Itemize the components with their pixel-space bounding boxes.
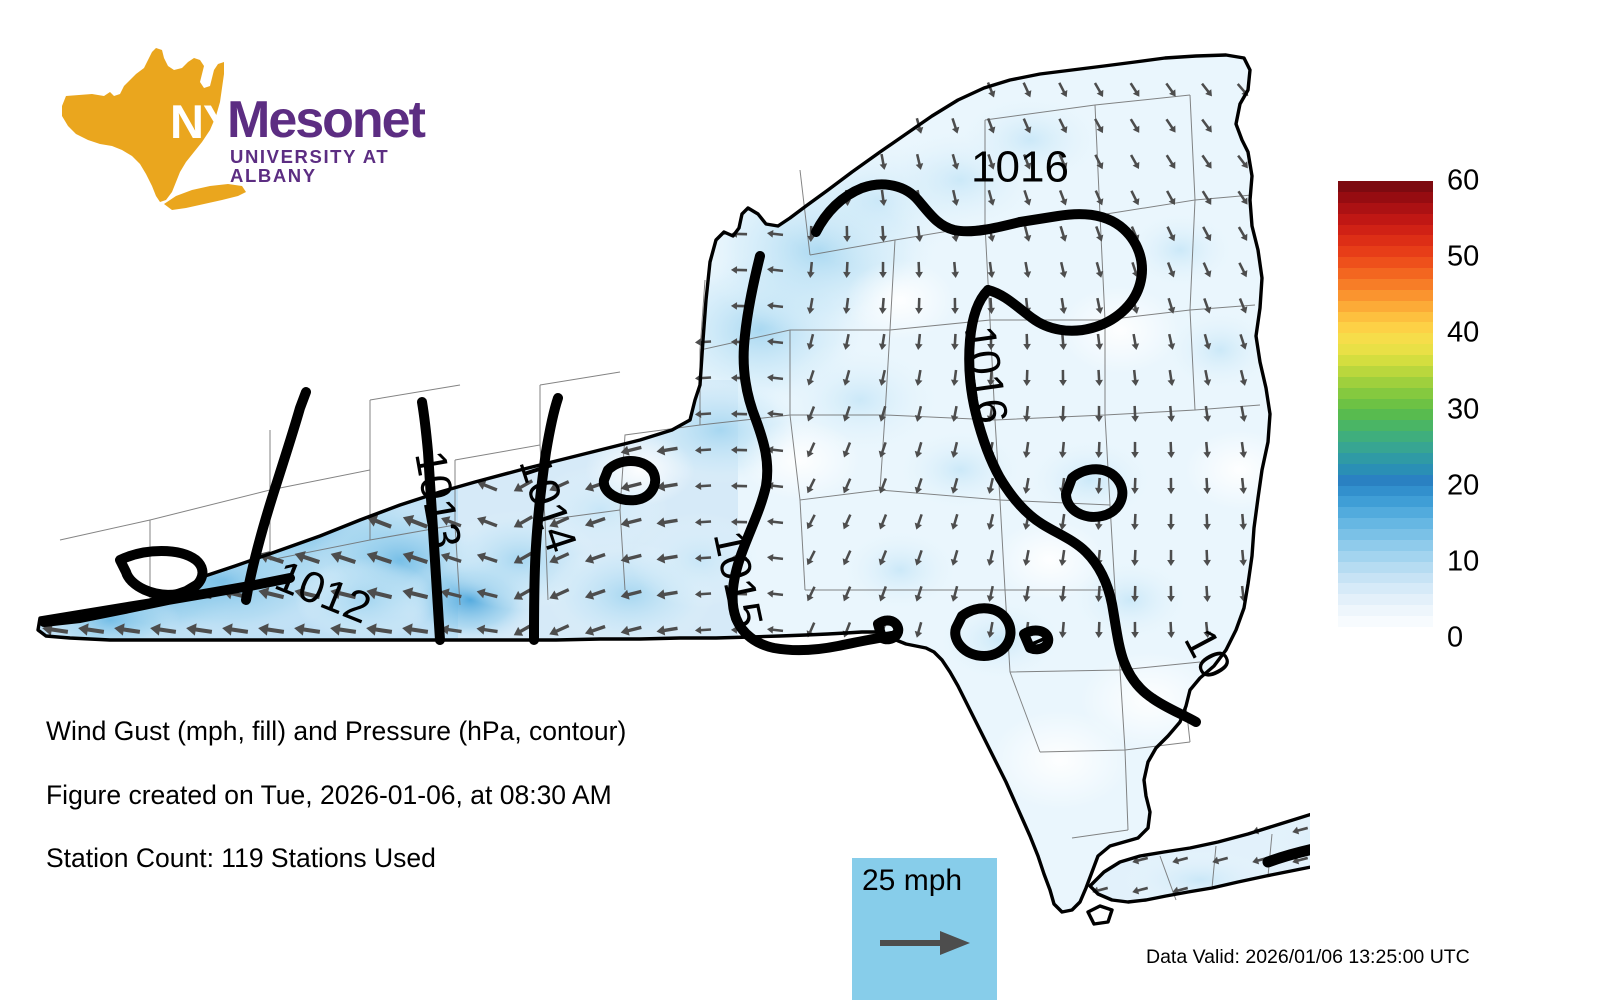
colorbar-band [1338, 594, 1433, 605]
colorbar-tick-30: 30 [1447, 395, 1479, 424]
colorbar-band [1338, 442, 1433, 453]
data-valid-footer: Data Valid: 2026/01/06 13:25:00 UTC [1146, 948, 1470, 968]
colorbar-tick-60: 60 [1447, 167, 1479, 196]
colorbar-band [1338, 529, 1433, 540]
colorbar-band [1338, 399, 1433, 410]
colorbar-band [1338, 214, 1433, 225]
colorbar-band [1338, 583, 1433, 594]
colorbar-band [1338, 377, 1433, 388]
colorbar-band [1338, 540, 1433, 551]
colorbar-band [1338, 366, 1433, 377]
colorbar-band [1338, 301, 1433, 312]
colorbar-band [1338, 203, 1433, 214]
colorbar-band [1338, 486, 1433, 497]
colorbar-band [1338, 192, 1433, 203]
colorbar [1338, 181, 1433, 638]
colorbar-band [1338, 181, 1433, 192]
caption-title: Wind Gust (mph, fill) and Pressure (hPa,… [46, 718, 806, 745]
colorbar-band [1338, 551, 1433, 562]
colorbar-band [1338, 616, 1433, 627]
colorbar-band [1338, 333, 1433, 344]
caption-created: Figure created on Tue, 2026-01-06, at 08… [46, 782, 806, 809]
colorbar-band [1338, 409, 1433, 420]
colorbar-tick-50: 50 [1447, 243, 1479, 272]
contour-label-1016-north: 1016 [971, 143, 1069, 192]
colorbar-band [1338, 475, 1433, 486]
colorbar-band [1338, 279, 1433, 290]
colorbar-band [1338, 235, 1433, 246]
colorbar-tick-40: 40 [1447, 319, 1479, 348]
colorbar-band [1338, 605, 1433, 616]
colorbar-band [1338, 355, 1433, 366]
wind-vector-key: 25 mph [852, 858, 997, 1000]
colorbar-tick-20: 20 [1447, 471, 1479, 500]
colorbar-tick-10: 10 [1447, 547, 1479, 576]
colorbar-band [1338, 496, 1433, 507]
logo-subtitle: UNIVERSITY AT ALBANY [230, 148, 402, 185]
wind-arrow-icon [880, 926, 972, 960]
colorbar-band [1338, 573, 1433, 584]
colorbar-band [1338, 322, 1433, 333]
colorbar-band [1338, 420, 1433, 431]
logo-mesonet-text: Mesonet [227, 94, 424, 146]
colorbar-band [1338, 312, 1433, 323]
wind-key-label: 25 mph [862, 866, 962, 896]
colorbar-band [1338, 431, 1433, 442]
colorbar-band [1338, 388, 1433, 399]
colorbar-band [1338, 507, 1433, 518]
caption-stations: Station Count: 119 Stations Used [46, 845, 806, 872]
colorbar-band [1338, 518, 1433, 529]
colorbar-tick-labels: 6050403020100 [1447, 181, 1577, 638]
colorbar-band [1338, 562, 1433, 573]
colorbar-band [1338, 464, 1433, 475]
colorbar-band [1338, 225, 1433, 236]
colorbar-band [1338, 453, 1433, 464]
colorbar-tick-0: 0 [1447, 624, 1463, 653]
colorbar-band [1338, 344, 1433, 355]
colorbar-band [1338, 290, 1433, 301]
colorbar-band [1338, 268, 1433, 279]
colorbar-band [1338, 627, 1433, 638]
figure-caption: Wind Gust (mph, fill) and Pressure (hPa,… [46, 718, 806, 909]
nys-mesonet-logo: NYS Mesonet UNIVERSITY AT ALBANY [52, 44, 402, 214]
colorbar-band [1338, 246, 1433, 257]
colorbar-band [1338, 257, 1433, 268]
